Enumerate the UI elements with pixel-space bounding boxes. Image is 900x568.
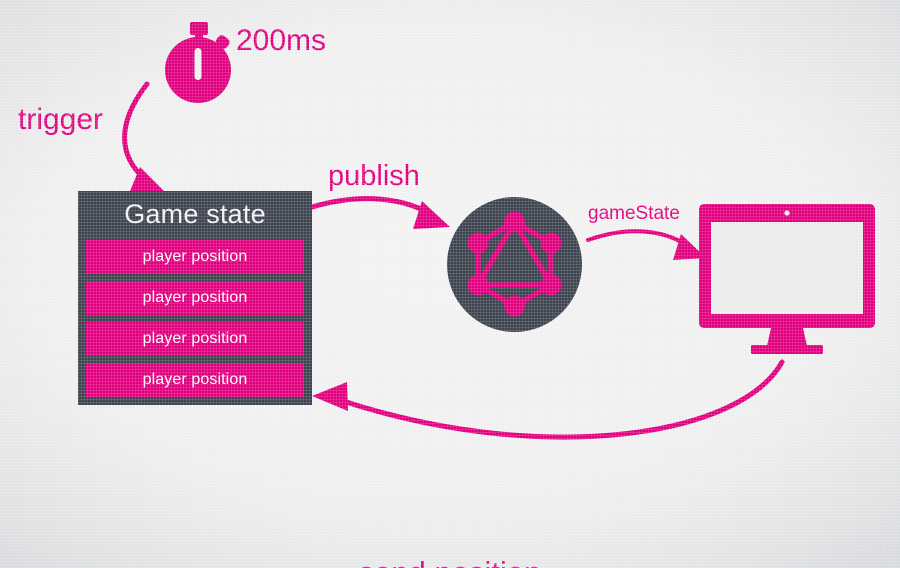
send-position-label: send position every 100ms <box>0 460 900 568</box>
gamestate-arrow <box>588 231 706 260</box>
game-state-title: Game state <box>78 192 312 236</box>
graphql-logo-icon <box>447 197 582 332</box>
diagram-canvas: .arrowline { fill:none; stroke:#e2007f; … <box>0 0 900 568</box>
player-position-bar-3[interactable]: player position <box>86 322 304 356</box>
stopwatch-icon <box>160 22 238 104</box>
send-position-line-1: send position <box>0 550 900 568</box>
publish-arrow <box>312 199 450 229</box>
trigger-label: trigger <box>18 103 103 137</box>
publish-label: publish <box>328 160 420 193</box>
player-position-bar-4[interactable]: player position <box>86 363 304 397</box>
send-position-arrow <box>312 362 782 437</box>
game-state-panel: Game state player position player positi… <box>78 191 312 405</box>
gamestate-label: gameState <box>588 203 680 225</box>
player-position-bar-2[interactable]: player position <box>86 281 304 315</box>
stopwatch-interval-label: 200ms <box>236 24 326 58</box>
desktop-monitor-icon <box>699 204 875 356</box>
player-position-bar-1[interactable]: player position <box>86 240 304 274</box>
